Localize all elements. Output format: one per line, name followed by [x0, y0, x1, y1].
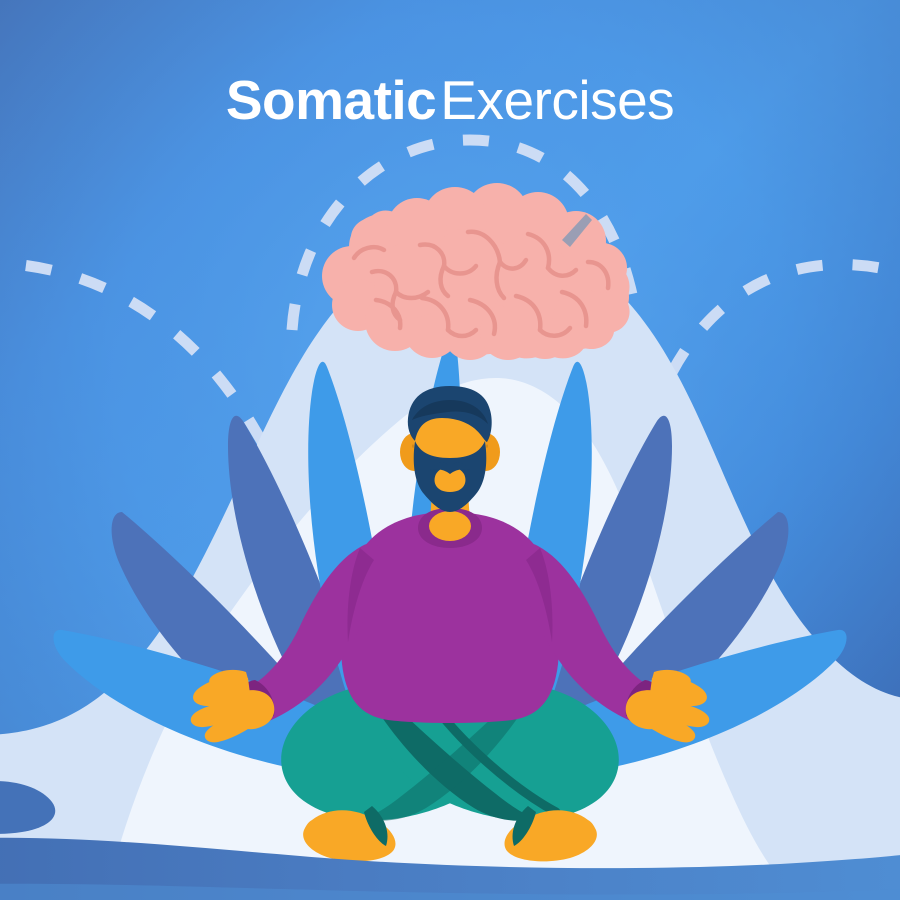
- poster-canvas: SomaticExercises: [0, 0, 900, 900]
- collar-inner: [429, 511, 471, 541]
- illustration-svg: [0, 0, 900, 900]
